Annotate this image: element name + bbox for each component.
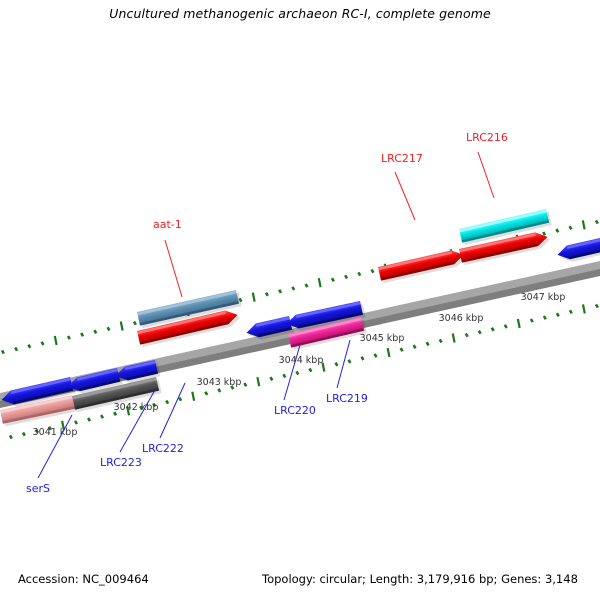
tick-mark-upper xyxy=(266,293,268,296)
label-leader-LRC216 xyxy=(478,152,494,198)
tick-mark-lower xyxy=(257,377,259,386)
tick-mark-lower xyxy=(244,383,246,386)
tick-mark-lower xyxy=(531,319,533,322)
tick-mark-lower xyxy=(310,368,312,371)
gene-label-LRC217[interactable]: LRC217 xyxy=(381,152,423,165)
feature-lrc217-gene[interactable] xyxy=(378,248,468,284)
tick-mark-lower xyxy=(218,389,220,392)
genome-map-viewer: Uncultured methanogenic archaeon RC-I, c… xyxy=(0,0,600,600)
feature-lrc215-gene[interactable] xyxy=(556,238,600,265)
feature-layer[interactable] xyxy=(0,209,600,427)
tick-mark-lower xyxy=(362,357,364,360)
tick-mark-upper xyxy=(42,342,44,345)
gene-label-LRC219[interactable]: LRC219 xyxy=(326,392,368,405)
tick-mark-upper xyxy=(134,322,136,325)
tick-mark-lower xyxy=(270,377,272,380)
tick-mark-lower xyxy=(453,334,455,343)
tick-mark-lower xyxy=(283,374,285,377)
tick-mark-lower xyxy=(166,400,168,403)
tick-mark-lower xyxy=(505,325,507,328)
label-leader-LRC222 xyxy=(160,383,185,438)
gene-label-LRC223[interactable]: LRC223 xyxy=(100,456,142,469)
tick-mark-lower xyxy=(192,392,194,401)
genome-map-canvas[interactable]: 3041 kbp3042 kbp3043 kbp3044 kbp3045 kbp… xyxy=(0,0,600,600)
genome-summary-text: Topology: circular; Length: 3,179,916 bp… xyxy=(262,572,578,586)
label-leader-layer xyxy=(38,152,494,478)
tick-mark-lower xyxy=(440,339,442,342)
tick-mark-lower xyxy=(375,354,377,357)
tick-label: 3043 kbp xyxy=(197,377,242,388)
tick-mark-upper xyxy=(292,287,294,290)
tick-mark-upper xyxy=(332,278,334,281)
gene-label-aat-1[interactable]: aat-1 xyxy=(153,218,182,231)
gene-label-LRC222[interactable]: LRC222 xyxy=(142,442,184,455)
tick-mark-lower xyxy=(179,398,181,401)
tick-mark-upper xyxy=(345,275,347,278)
tick-mark-lower xyxy=(296,371,298,374)
tick-mark-upper xyxy=(55,336,57,345)
tick-mark-upper xyxy=(306,284,308,287)
tick-mark-lower xyxy=(466,334,468,337)
tick-mark-lower xyxy=(349,360,351,363)
tick-mark-upper xyxy=(583,220,585,229)
label-leader-LRC219 xyxy=(337,340,350,388)
tick-mark-lower xyxy=(10,435,12,438)
label-leader-aat-1 xyxy=(165,240,182,297)
gene-label-serS[interactable]: serS xyxy=(26,482,50,495)
tick-mark-upper xyxy=(543,232,545,235)
tick-mark-upper xyxy=(279,290,281,293)
tick-label: 3047 kbp xyxy=(521,292,566,303)
tick-mark-lower xyxy=(75,421,77,424)
label-leader-serS xyxy=(38,415,72,478)
tick-mark-lower xyxy=(101,415,103,418)
tick-mark-lower xyxy=(401,348,403,351)
tick-mark-lower xyxy=(427,342,429,345)
tick-mark-upper xyxy=(15,348,17,351)
tick-label: 3045 kbp xyxy=(360,333,405,344)
tick-mark-lower xyxy=(23,432,25,435)
tick-mark-upper xyxy=(570,226,572,229)
tick-label: 3044 kbp xyxy=(279,355,324,366)
tick-mark-lower xyxy=(518,319,520,328)
tick-mark-upper xyxy=(596,220,598,223)
tick-mark-upper xyxy=(81,333,83,336)
tick-mark-lower xyxy=(557,313,559,316)
tick-mark-upper xyxy=(28,345,30,348)
tick-mark-lower xyxy=(388,348,390,357)
tick-mark-lower xyxy=(544,316,546,319)
tick-mark-upper xyxy=(108,327,110,330)
tick-mark-upper xyxy=(253,293,255,302)
tick-mark-upper xyxy=(556,229,558,232)
tick-mark-lower xyxy=(570,310,572,313)
tick-mark-lower xyxy=(596,304,598,307)
tick-label: 3046 kbp xyxy=(439,313,484,324)
tick-mark-upper xyxy=(358,272,360,275)
tick-mark-upper xyxy=(372,270,374,273)
tick-mark-upper xyxy=(319,278,321,287)
tick-mark-lower xyxy=(205,392,207,395)
tick-mark-lower xyxy=(336,363,338,366)
gene-label-LRC216[interactable]: LRC216 xyxy=(466,131,508,144)
tick-mark-lower xyxy=(414,345,416,348)
tick-mark-upper xyxy=(94,330,96,333)
label-leader-LRC217 xyxy=(395,172,415,220)
accession-text: Accession: NC_009464 xyxy=(18,572,149,586)
gene-label-layer[interactable]: serSLRC223LRC222LRC220LRC219aat-1LRC217L… xyxy=(26,131,508,495)
tick-label: 3042 kbp xyxy=(114,402,159,413)
tick-mark-lower xyxy=(479,331,481,334)
tick-mark-lower xyxy=(492,328,494,331)
tick-mark-lower xyxy=(88,418,90,421)
tick-mark-upper xyxy=(121,322,123,331)
tick-mark-upper xyxy=(2,350,4,353)
gene-label-LRC220[interactable]: LRC220 xyxy=(274,404,316,417)
tick-mark-lower xyxy=(583,304,585,313)
tick-label: 3041 kbp xyxy=(33,427,78,438)
tick-mark-upper xyxy=(68,336,70,339)
